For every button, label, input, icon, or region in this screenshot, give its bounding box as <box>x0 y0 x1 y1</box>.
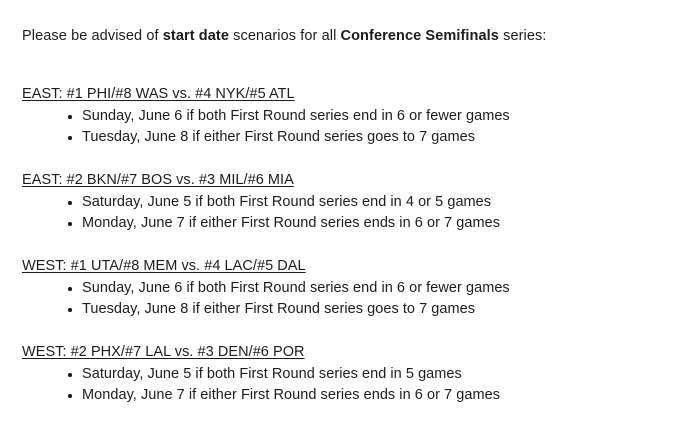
bullet-list: Sunday, June 6 if both First Round serie… <box>22 106 680 148</box>
list-item: Saturday, June 5 if both First Round ser… <box>22 364 680 385</box>
list-item: Sunday, June 6 if both First Round serie… <box>22 278 680 299</box>
bullet-list: Saturday, June 5 if both First Round ser… <box>22 364 680 406</box>
section-heading-west-2: WEST: #2 PHX/#7 LAL vs. #3 DEN/#6 POR <box>22 343 305 361</box>
intro-bold-conference-semifinals: Conference Semifinals <box>341 28 499 44</box>
list-item: Tuesday, June 8 if either First Round se… <box>22 127 680 148</box>
bullet-list: Saturday, June 5 if both First Round ser… <box>22 192 680 234</box>
section-heading-east-1: EAST: #1 PHI/#8 WAS vs. #4 NYK/#5 ATL <box>22 85 295 103</box>
intro-text-part-2: scenarios for all <box>229 28 341 44</box>
document-page: Please be advised of start date scenario… <box>0 0 700 440</box>
list-item: Monday, June 7 if either First Round ser… <box>22 213 680 234</box>
series-sections: EAST: #1 PHI/#8 WAS vs. #4 NYK/#5 ATL Su… <box>22 85 680 406</box>
list-item: Monday, June 7 if either First Round ser… <box>22 385 680 406</box>
section-heading-east-2: EAST: #2 BKN/#7 BOS vs. #3 MIL/#6 MIA <box>22 171 294 189</box>
bullet-list: Sunday, June 6 if both First Round serie… <box>22 278 680 320</box>
series-section: WEST: #2 PHX/#7 LAL vs. #3 DEN/#6 POR Sa… <box>22 343 680 406</box>
intro-text-part-3: series: <box>499 28 547 44</box>
intro-bold-start-date: start date <box>163 28 229 44</box>
list-item: Tuesday, June 8 if either First Round se… <box>22 299 680 320</box>
series-section: EAST: #1 PHI/#8 WAS vs. #4 NYK/#5 ATL Su… <box>22 85 680 148</box>
intro-text-part-1: Please be advised of <box>22 28 163 44</box>
section-heading-west-1: WEST: #1 UTA/#8 MEM vs. #4 LAC/#5 DAL <box>22 257 306 275</box>
intro-paragraph: Please be advised of start date scenario… <box>22 27 680 45</box>
list-item: Saturday, June 5 if both First Round ser… <box>22 192 680 213</box>
series-section: EAST: #2 BKN/#7 BOS vs. #3 MIL/#6 MIA Sa… <box>22 171 680 234</box>
list-item: Sunday, June 6 if both First Round serie… <box>22 106 680 127</box>
series-section: WEST: #1 UTA/#8 MEM vs. #4 LAC/#5 DAL Su… <box>22 257 680 320</box>
